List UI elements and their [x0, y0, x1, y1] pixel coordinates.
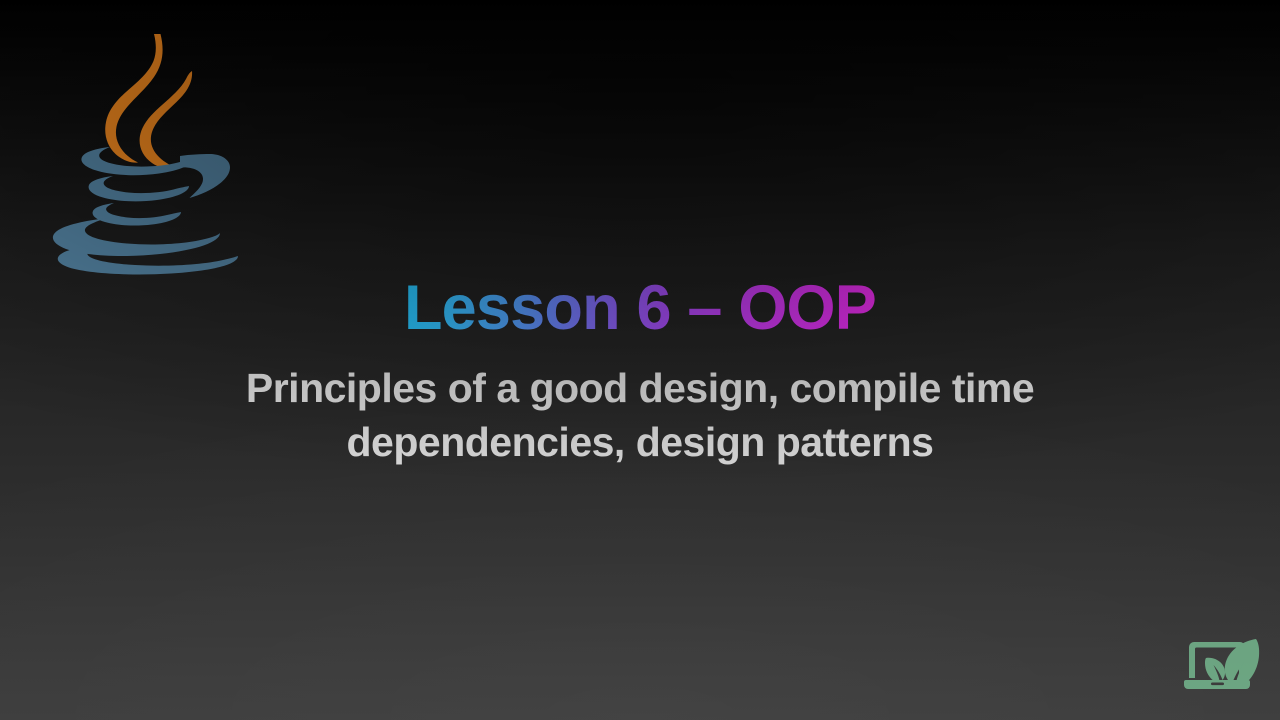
laptop-leaf-logo: [1184, 634, 1262, 700]
java-logo-cup: [53, 147, 238, 274]
java-logo: [52, 28, 248, 276]
java-logo-steam: [105, 34, 192, 169]
page-title: Lesson 6 – OOP: [398, 276, 882, 345]
slide-text-block: Lesson 6 – OOP Principles of a good desi…: [0, 276, 1280, 469]
slide-canvas: Lesson 6 – OOP Principles of a good desi…: [0, 0, 1280, 720]
slide-subtitle: Principles of a good design, compile tim…: [200, 361, 1080, 469]
